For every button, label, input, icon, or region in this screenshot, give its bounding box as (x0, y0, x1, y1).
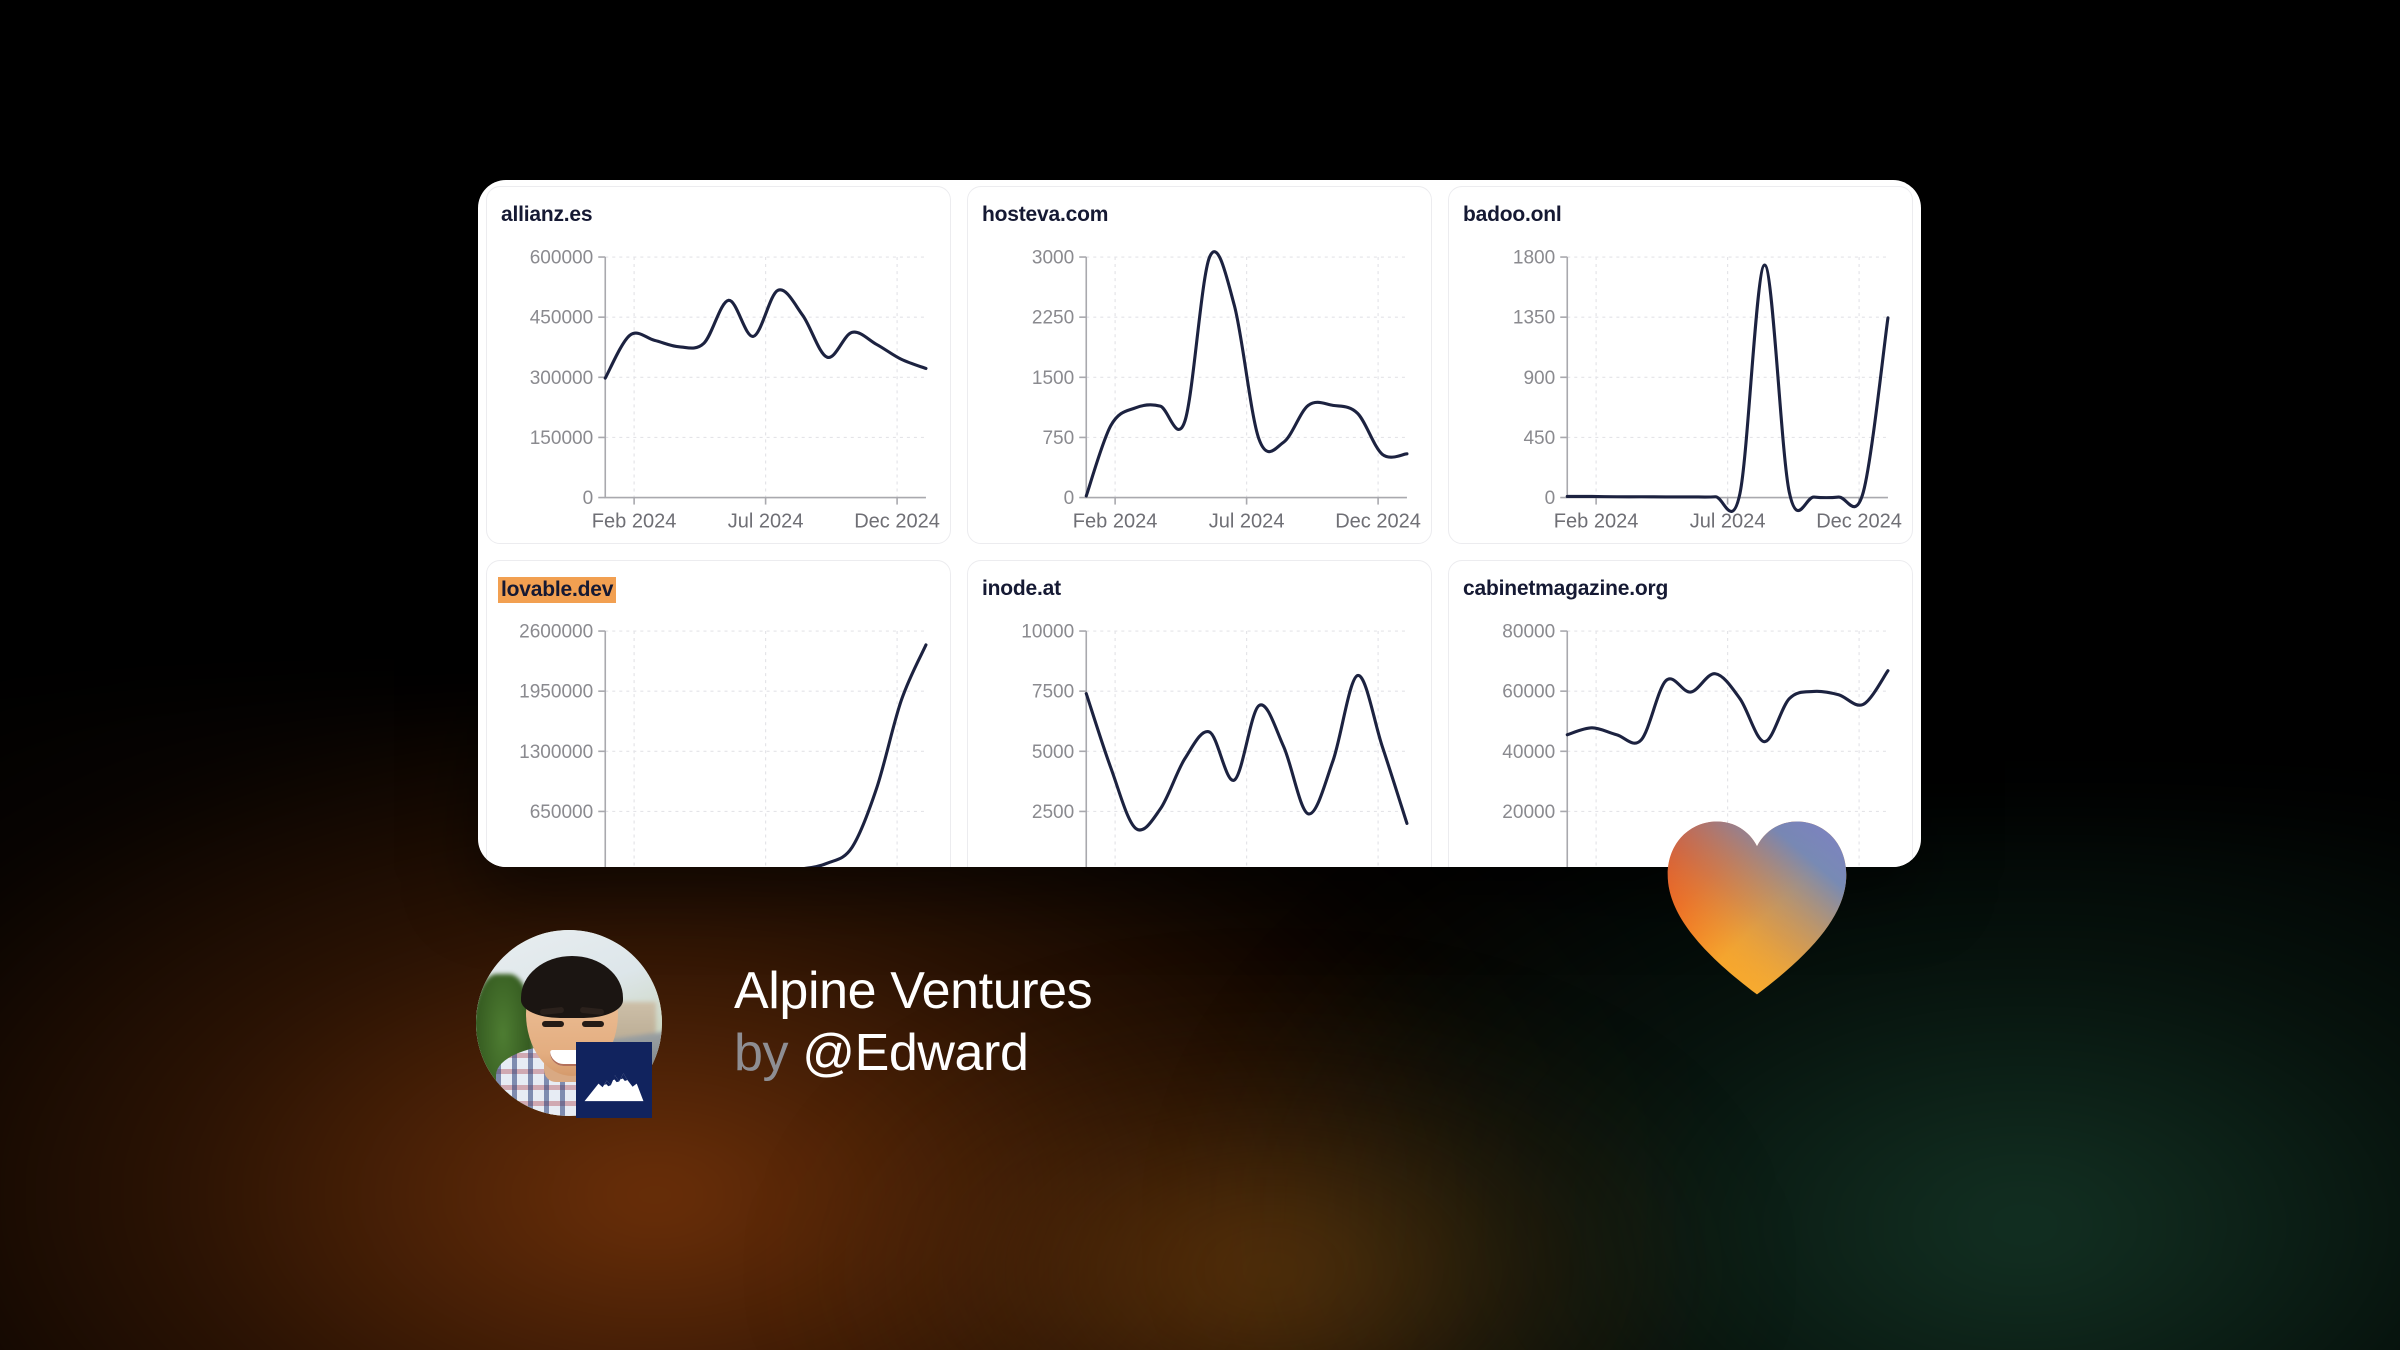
byline: by @Edward (734, 1024, 1092, 1082)
chart-plot: 0750150022503000Feb 2024Jul 2024Dec 2024 (968, 239, 1431, 543)
chart-card[interactable]: badoo.onl045090013501800Feb 2024Jul 2024… (1448, 186, 1913, 544)
x-tick-label: Jul 2024 (728, 511, 804, 533)
y-tick-label: 2500 (1032, 802, 1074, 823)
mountain-logo-icon (576, 1042, 652, 1118)
footer-identity: Alpine Ventures by @Edward (476, 930, 1092, 1116)
y-tick-label: 900 (1523, 368, 1555, 389)
chart-card[interactable]: hosteva.com0750150022503000Feb 2024Jul 2… (967, 186, 1432, 544)
y-tick-label: 10000 (1021, 622, 1074, 643)
y-tick-label: 5000 (1032, 742, 1074, 763)
avatar-wrapper (476, 930, 662, 1116)
chart-plot: 650000130000019500002600000Feb 2024Jul 2… (487, 613, 950, 867)
y-tick-label: 60000 (1502, 682, 1555, 703)
chart-title: badoo.onl (1463, 203, 1562, 227)
x-tick-label: Feb 2024 (1073, 511, 1158, 533)
chart-title: hosteva.com (982, 203, 1108, 227)
y-tick-label: 2600000 (519, 622, 593, 643)
y-tick-label: 750 (1042, 428, 1074, 449)
y-tick-label: 600000 (530, 248, 594, 269)
y-tick-label: 0 (1064, 488, 1075, 509)
x-tick-label: Jul 2024 (1690, 511, 1766, 533)
y-tick-label: 40000 (1502, 742, 1555, 763)
y-tick-label: 450000 (530, 308, 594, 329)
y-tick-label: 1300000 (519, 742, 593, 763)
avatar-eye-right (582, 1021, 604, 1027)
chart-title: lovable.dev (498, 577, 616, 603)
y-tick-label: 1800 (1513, 248, 1555, 269)
avatar-eye-left (542, 1021, 564, 1027)
y-tick-label: 3000 (1032, 248, 1074, 269)
x-tick-label: Feb 2024 (592, 511, 677, 533)
y-tick-label: 1350 (1513, 308, 1555, 329)
x-tick-label: Dec 2024 (1816, 511, 1902, 533)
y-tick-label: 450 (1523, 428, 1555, 449)
y-tick-label: 150000 (530, 428, 594, 449)
author-handle: @Edward (802, 1024, 1028, 1082)
y-tick-label: 0 (583, 488, 594, 509)
series-line (605, 645, 926, 867)
y-tick-label: 7500 (1032, 682, 1074, 703)
byline-prefix: by (734, 1024, 788, 1082)
y-tick-label: 1500 (1032, 368, 1074, 389)
x-tick-label: Dec 2024 (854, 511, 940, 533)
chart-title: allianz.es (501, 203, 592, 227)
chart-card[interactable]: lovable.dev650000130000019500002600000Fe… (486, 560, 951, 867)
chart-title: cabinetmagazine.org (1463, 577, 1668, 601)
chart-card[interactable]: inode.at25005000750010000Feb 2024Jul 202… (967, 560, 1432, 867)
dashboard-panel: allianz.es0150000300000450000600000Feb 2… (478, 180, 1921, 867)
series-line (1086, 252, 1407, 496)
chart-grid: allianz.es0150000300000450000600000Feb 2… (478, 180, 1921, 867)
org-name: Alpine Ventures (734, 964, 1092, 1018)
y-tick-label: 20000 (1502, 802, 1555, 823)
y-tick-label: 650000 (530, 802, 594, 823)
identity-text: Alpine Ventures by @Edward (734, 964, 1092, 1082)
y-tick-label: 1950000 (519, 682, 593, 703)
heart-icon (1662, 812, 1852, 1002)
chart-plot: 0150000300000450000600000Feb 2024Jul 202… (487, 239, 950, 543)
x-tick-label: Dec 2024 (1335, 511, 1421, 533)
x-tick-label: Feb 2024 (1554, 511, 1639, 533)
chart-title: inode.at (982, 577, 1061, 601)
y-tick-label: 300000 (530, 368, 594, 389)
chart-plot: 25005000750010000Feb 2024Jul 2024Dec 202… (968, 613, 1431, 867)
chart-card[interactable]: allianz.es0150000300000450000600000Feb 2… (486, 186, 951, 544)
y-tick-label: 2250 (1032, 308, 1074, 329)
y-tick-label: 0 (1545, 488, 1556, 509)
series-line (1567, 671, 1888, 743)
chart-plot: 045090013501800Feb 2024Jul 2024Dec 2024 (1449, 239, 1912, 543)
y-tick-label: 80000 (1502, 622, 1555, 643)
x-tick-label: Jul 2024 (1209, 511, 1285, 533)
